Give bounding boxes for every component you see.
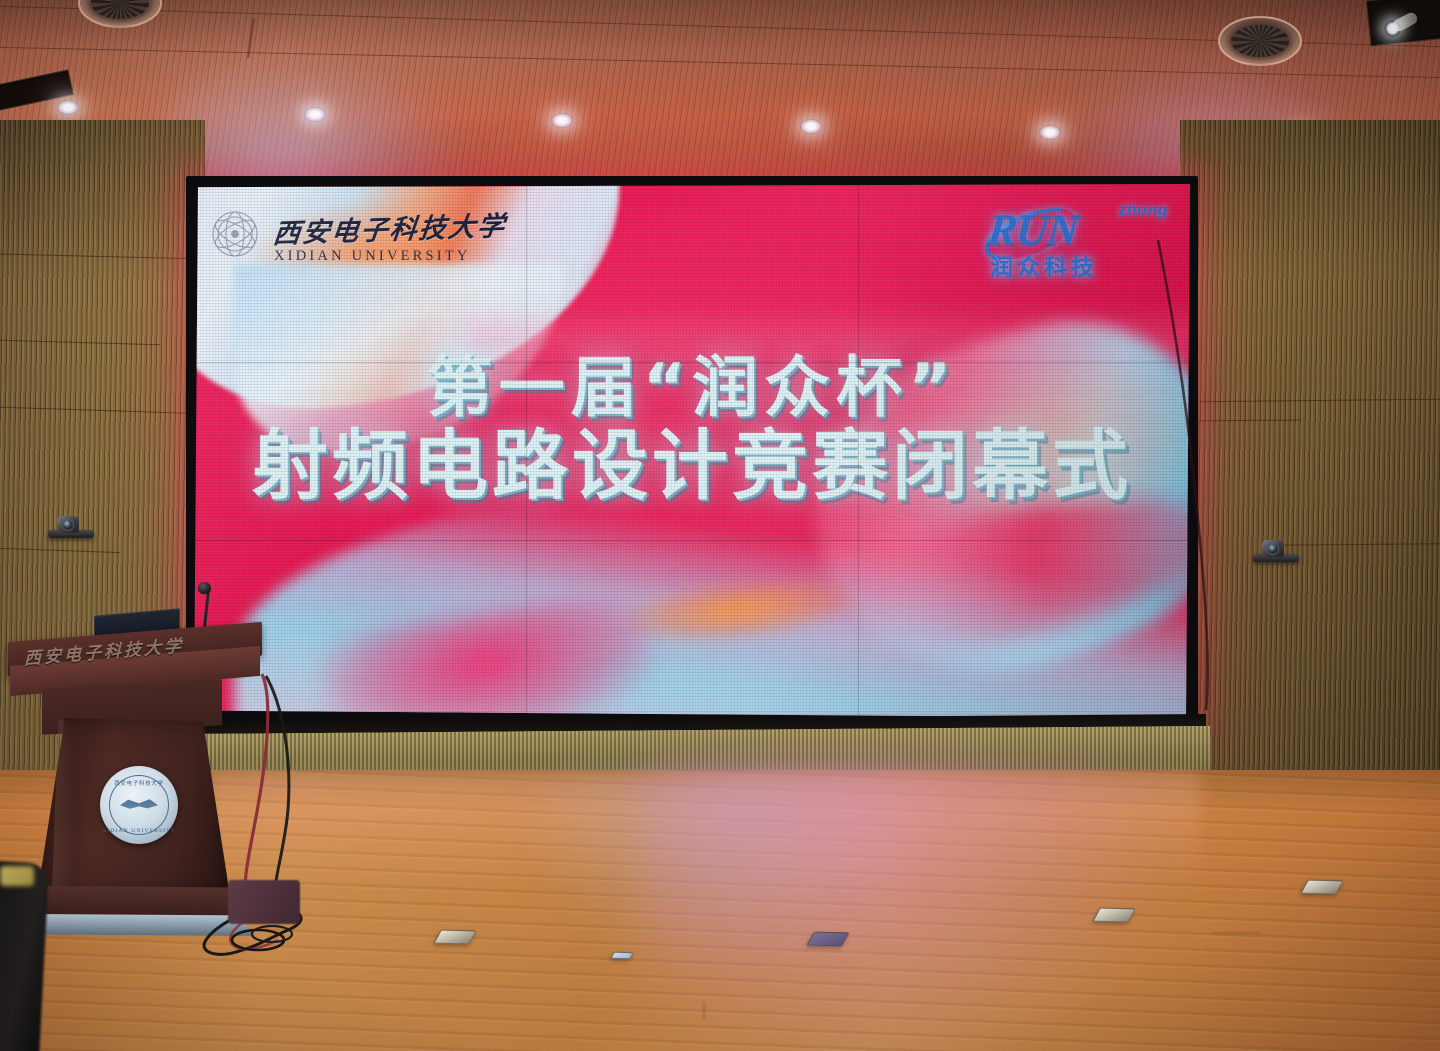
- ceiling-downlight: [1039, 125, 1061, 140]
- foreground-object: [0, 866, 34, 886]
- camera-lens-icon: [62, 519, 74, 531]
- auditorium-photo: 西安电子科技大学 XIDIAN UNIVERSITY RUN zhong 润众科…: [0, 0, 1440, 1051]
- ceiling-downlight: [551, 113, 573, 128]
- floor-scuff-mark: [703, 1002, 705, 1020]
- equipment-bag: [228, 880, 300, 924]
- floor-socket: [610, 952, 634, 960]
- led-tile-seam: [194, 362, 1190, 363]
- led-tile-seam: [194, 540, 1190, 541]
- led-tile-seam: [526, 184, 527, 718]
- wall-cable: [1150, 240, 1290, 740]
- floor-light-reflection: [640, 760, 1160, 1051]
- microphone-head-icon: [198, 582, 211, 594]
- ceiling-downlight: [304, 107, 326, 122]
- floor-scuff-mark: [1212, 932, 1260, 934]
- ceiling-vent-fan: [1218, 16, 1302, 66]
- cable-group: [0, 600, 420, 980]
- ptz-camera-left: [48, 516, 94, 538]
- ceiling-downlight: [57, 100, 79, 115]
- ceiling-downlight: [800, 119, 822, 134]
- led-tile-seam: [858, 184, 859, 718]
